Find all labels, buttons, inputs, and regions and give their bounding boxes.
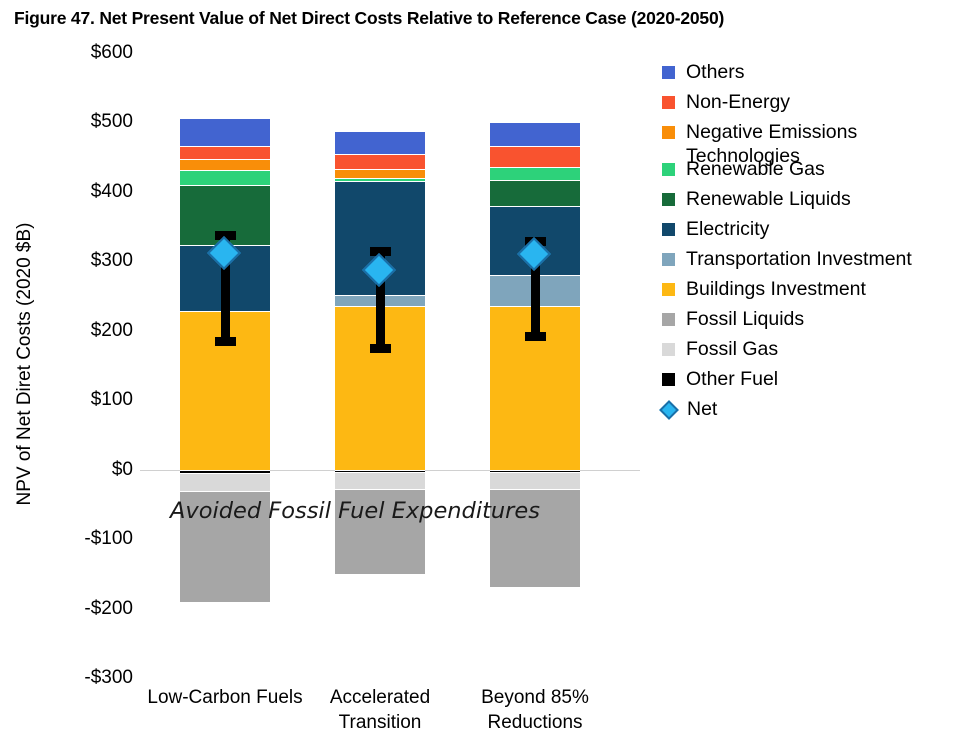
plot-area: Low-Carbon Fuels Accelerated Transition … <box>140 53 640 678</box>
bar-group <box>180 53 270 678</box>
bar-segment <box>180 146 270 159</box>
legend-item[interactable]: Non-Energy <box>662 90 972 114</box>
legend-label: Others <box>686 60 745 84</box>
y-tick: -$300 <box>13 667 133 689</box>
bar-segment <box>180 159 270 170</box>
legend-swatch-icon <box>662 253 675 266</box>
legend-swatch-icon <box>662 283 675 296</box>
figure-title: Figure 47. Net Present Value of Net Dire… <box>14 8 724 29</box>
bar-segment <box>180 118 270 146</box>
bar-segment <box>490 180 580 206</box>
bar-segment <box>180 170 270 185</box>
legend-label: Buildings Investment <box>686 277 866 301</box>
y-tick: -$200 <box>13 598 133 620</box>
bar-segment <box>180 473 270 491</box>
legend-label: Fossil Gas <box>686 337 778 361</box>
legend-item[interactable]: Electricity <box>662 217 972 241</box>
bar-group <box>335 53 425 678</box>
bar-segment <box>490 122 580 146</box>
legend-swatch-icon <box>662 343 675 356</box>
error-bar-cap-bottom <box>215 337 236 346</box>
legend-item[interactable]: Transportation Investment <box>662 247 972 271</box>
legend-label: Net <box>687 397 717 421</box>
legend-swatch-icon <box>662 66 675 79</box>
legend-item[interactable]: Other Fuel <box>662 367 972 391</box>
legend-label: Non-Energy <box>686 90 790 114</box>
legend-swatch-icon <box>662 313 675 326</box>
legend-label: Other Fuel <box>686 367 778 391</box>
legend-diamond-icon <box>659 400 679 420</box>
x-category-label: Beyond 85% Reductions <box>455 685 615 735</box>
legend-swatch-icon <box>662 373 675 386</box>
x-category-label: Low-Carbon Fuels <box>145 685 305 710</box>
legend-item[interactable]: Fossil Liquids <box>662 307 972 331</box>
y-axis-ticks: $600 $500 $400 $300 $200 $100 $0 -$100 -… <box>0 53 133 678</box>
legend-swatch-icon <box>662 96 675 109</box>
legend-item[interactable]: Renewable Liquids <box>662 187 972 211</box>
legend-item[interactable]: Net <box>662 397 972 421</box>
legend-swatch-icon <box>662 223 675 236</box>
error-bar-cap-bottom <box>370 344 391 353</box>
legend-label: Renewable Gas <box>686 157 825 181</box>
legend-item[interactable]: Others <box>662 60 972 84</box>
legend-item[interactable]: Buildings Investment <box>662 277 972 301</box>
y-axis-label: NPV of Net Diret Costs (2020 $B) <box>14 129 36 599</box>
legend-label: Renewable Liquids <box>686 187 851 211</box>
bar-segment <box>335 178 425 181</box>
legend-swatch-icon <box>662 163 675 176</box>
legend-swatch-icon <box>662 193 675 206</box>
error-bar-cap-bottom <box>525 332 546 341</box>
bar-segment <box>490 472 580 489</box>
legend-label: Electricity <box>686 217 769 241</box>
bar-segment <box>335 131 425 155</box>
x-category-label: Accelerated Transition <box>300 685 460 735</box>
legend-label: Fossil Liquids <box>686 307 804 331</box>
chart-annotation: Avoided Fossil Fuel Expenditures <box>170 498 540 524</box>
bar-segment <box>490 146 580 167</box>
legend-item[interactable]: Fossil Gas <box>662 337 972 361</box>
chart-legend: OthersNon-EnergyNegative Emissions Techn… <box>662 60 972 421</box>
bar-segment <box>490 167 580 180</box>
y-tick: $600 <box>13 42 133 64</box>
bar-segment <box>335 472 425 489</box>
bar-group <box>490 53 580 678</box>
bar-segment <box>335 169 425 178</box>
bar-segment <box>335 154 425 169</box>
legend-label: Transportation Investment <box>686 247 912 271</box>
legend-swatch-icon <box>662 126 675 139</box>
